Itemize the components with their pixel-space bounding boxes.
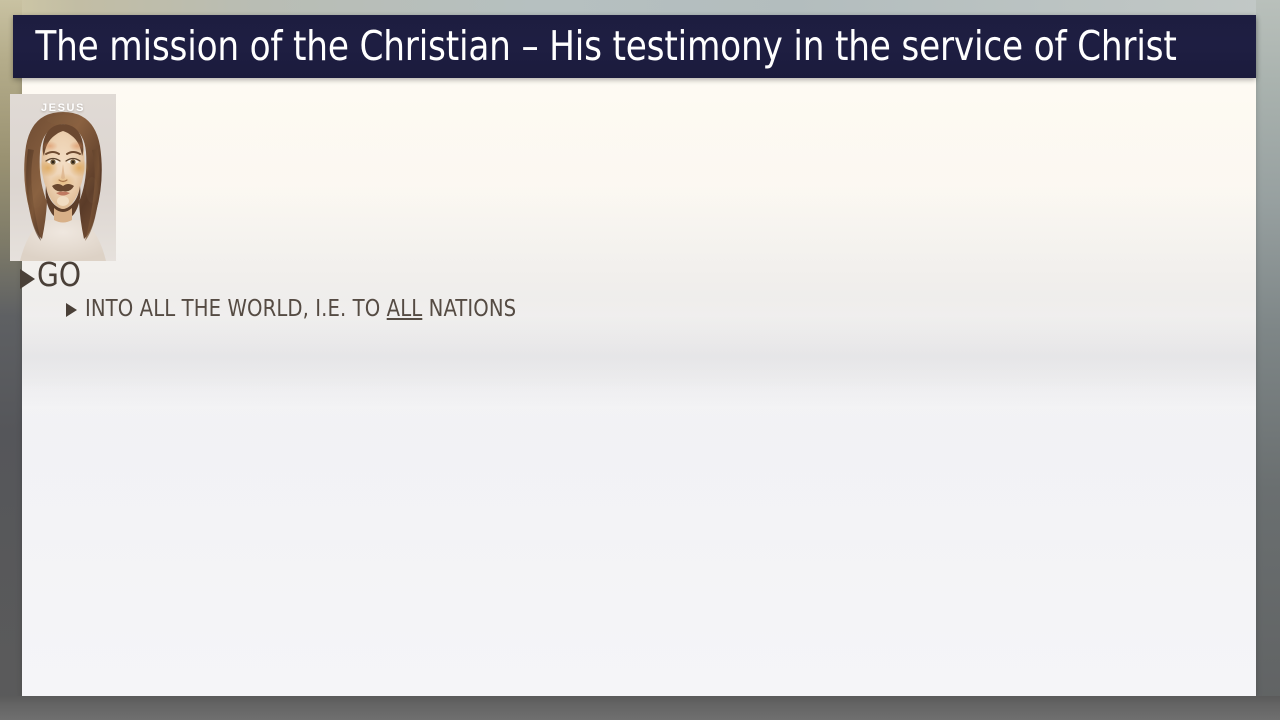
bullet-item-into-all-the-world: INTO ALL THE WORLD, I.E. TO ALL NATIONS xyxy=(66,298,1110,321)
background-haze-bottom xyxy=(22,376,1256,696)
triangle-right-bullet-icon xyxy=(20,269,35,289)
bullet-level2-prefix: INTO ALL THE WORLD, I.E. TO xyxy=(85,296,387,322)
jesus-image-caption: JESUS xyxy=(10,98,116,116)
slide-title-bar: The mission of the Christian – His testi… xyxy=(13,15,1256,78)
slide-bullet-list: GO INTO ALL THE WORLD, I.E. TO ALL NATIO… xyxy=(10,258,1110,321)
jesus-watercolour-illustration xyxy=(10,94,116,261)
bullet-level2-emphasis: ALL xyxy=(387,296,423,322)
triangle-right-bullet-icon xyxy=(66,303,77,317)
presentation-slide-frame: The mission of the Christian – His testi… xyxy=(0,0,1280,720)
slide-title: The mission of the Christian – His testi… xyxy=(13,26,1177,67)
background-haze-ridge xyxy=(22,316,1256,406)
bullet-level2-label: INTO ALL THE WORLD, I.E. TO ALL NATIONS xyxy=(85,298,516,321)
jesus-portrait-image: JESUS xyxy=(10,94,116,261)
slide-canvas xyxy=(22,16,1256,696)
frame-top-edge xyxy=(0,0,1280,16)
frame-bottom-edge xyxy=(0,696,1280,720)
bullet-item-go: GO xyxy=(20,258,1110,291)
frame-right-edge xyxy=(1256,0,1280,720)
bullet-level1-label: GO xyxy=(37,258,81,291)
bullet-level2-suffix: NATIONS xyxy=(422,296,516,322)
